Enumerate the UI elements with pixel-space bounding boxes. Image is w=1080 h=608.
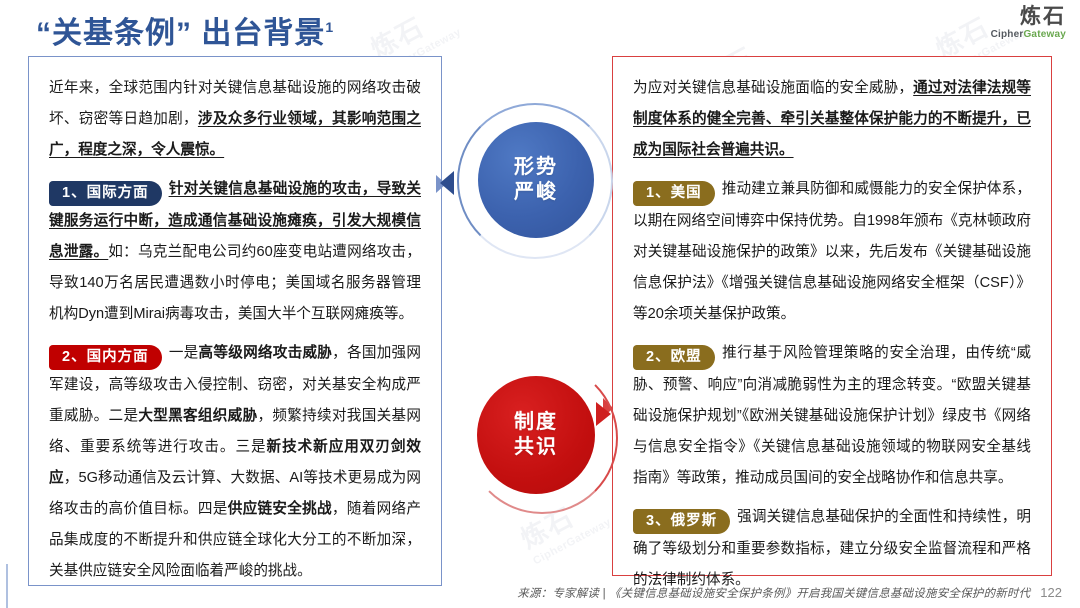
right-panel: 为应对关键信息基础设施面临的安全威胁，通过对法律法规等制度体系的健全完善、牵引关… bbox=[612, 56, 1052, 576]
slide-footer: 来源：专家解读 | 《关键信息基础设施安全保护条例》开启我国关键信息基础设施安全… bbox=[0, 584, 1080, 602]
chip-eu: 2、欧盟 bbox=[633, 345, 715, 370]
left-panel: 近年来，全球范围内针对关键信息基础设施的网络攻击破坏、窃密等日趋加剧，涉及众多行… bbox=[28, 56, 442, 586]
right-block-eu-paragraph: 2、欧盟推行基于风险管理策略的安全治理，由传统“威胁、预警、响应”向消减脆弱性为… bbox=[633, 338, 1031, 494]
right-block-usa-paragraph: 1、美国推动建立兼具防御和威慑能力的安全保护体系，以期在网络空间博弈中保持优势。… bbox=[633, 174, 1031, 330]
chip-usa: 1、美国 bbox=[633, 181, 715, 206]
right-intro-plain: 为应对关键信息基础设施面临的安全威胁， bbox=[633, 80, 913, 96]
slide-root: 炼石 CipherGateway 炼石 CipherGateway 炼石 Cip… bbox=[0, 0, 1080, 608]
left-block-domestic-paragraph: 2、国内方面一是高等级网络攻击威胁，各国加强网军建设，高等级攻击入侵控制、窃密，… bbox=[49, 338, 421, 587]
right-block-russia: 3、俄罗斯强调关键信息基础保护的全面性和持续性，明确了等级划分和重要参数指标，建… bbox=[633, 502, 1031, 596]
page-title-text: “关基条例” 出台背景 bbox=[36, 17, 325, 50]
left-block-international: 1、国际方面针对关键信息基础设施的攻击，导致关键服务运行中断，造成通信基础设施瘫… bbox=[49, 174, 421, 330]
left-domestic-run2-bold: 大型黑客组织威胁 bbox=[138, 408, 257, 424]
left-domestic-run1-plain: 一是 bbox=[169, 345, 199, 361]
chip-domestic: 2、国内方面 bbox=[49, 345, 162, 370]
right-intro-paragraph: 为应对关键信息基础设施面临的安全威胁，通过对法律法规等制度体系的健全完善、牵引关… bbox=[633, 73, 1031, 166]
slide-header: “关基条例” 出台背景1 炼石 CipherGateway bbox=[0, 0, 1080, 52]
right-block-usa: 1、美国推动建立兼具防御和威慑能力的安全保护体系，以期在网络空间博弈中保持优势。… bbox=[633, 174, 1031, 330]
right-block-eu: 2、欧盟推行基于风险管理策略的安全治理，由传统“威胁、预警、响应”向消减脆弱性为… bbox=[633, 338, 1031, 494]
circle-badge-line2: 严峻 bbox=[514, 180, 558, 205]
watermark-en: CipherGateway bbox=[531, 516, 613, 567]
brand-name-en-cipher: Cipher bbox=[991, 29, 1024, 40]
page-title: “关基条例” 出台背景1 bbox=[36, 8, 334, 52]
brand-name-cn: 炼石 bbox=[991, 6, 1066, 27]
page-title-superscript: 1 bbox=[325, 19, 334, 35]
left-intro-paragraph: 近年来，全球范围内针对关键信息基础设施的网络攻击破坏、窃密等日趋加剧，涉及众多行… bbox=[49, 73, 421, 166]
brand-name-en-gateway: Gateway bbox=[1023, 29, 1066, 40]
center-node-institutional-consensus: 制度 共识 bbox=[462, 358, 622, 518]
left-block-domestic: 2、国内方面一是高等级网络攻击威胁，各国加强网军建设，高等级攻击入侵控制、窃密，… bbox=[49, 338, 421, 587]
brand-name-en: CipherGateway bbox=[991, 30, 1066, 40]
circle-badge-institutional-consensus: 制度 共识 bbox=[477, 376, 595, 494]
circle-badge-situation-severe: 形势 严峻 bbox=[478, 122, 594, 238]
left-block-international-paragraph: 1、国际方面针对关键信息基础设施的攻击，导致关键服务运行中断，造成通信基础设施瘫… bbox=[49, 174, 421, 330]
right-block-russia-paragraph: 3、俄罗斯强调关键信息基础保护的全面性和持续性，明确了等级划分和重要参数指标，建… bbox=[633, 502, 1031, 596]
circle-badge-line2: 共识 bbox=[514, 435, 558, 460]
left-domestic-run1-bold: 高等级网络攻击威胁 bbox=[199, 345, 333, 361]
circle-badge-line1: 形势 bbox=[514, 155, 558, 180]
chip-russia: 3、俄罗斯 bbox=[633, 509, 730, 534]
brand-logo: 炼石 CipherGateway bbox=[991, 6, 1066, 40]
footer-page-number: 122 bbox=[1040, 585, 1062, 600]
left-domestic-run4-bold: 供应链安全挑战 bbox=[228, 501, 332, 517]
chip-international: 1、国际方面 bbox=[49, 181, 162, 206]
circle-badge-line1: 制度 bbox=[514, 410, 558, 435]
center-node-situation-severe: 形势 严峻 bbox=[452, 98, 618, 264]
footer-source-text: 来源：专家解读 | 《关键信息基础设施安全保护条例》开启我国关键信息基础设施安全… bbox=[517, 588, 1030, 600]
